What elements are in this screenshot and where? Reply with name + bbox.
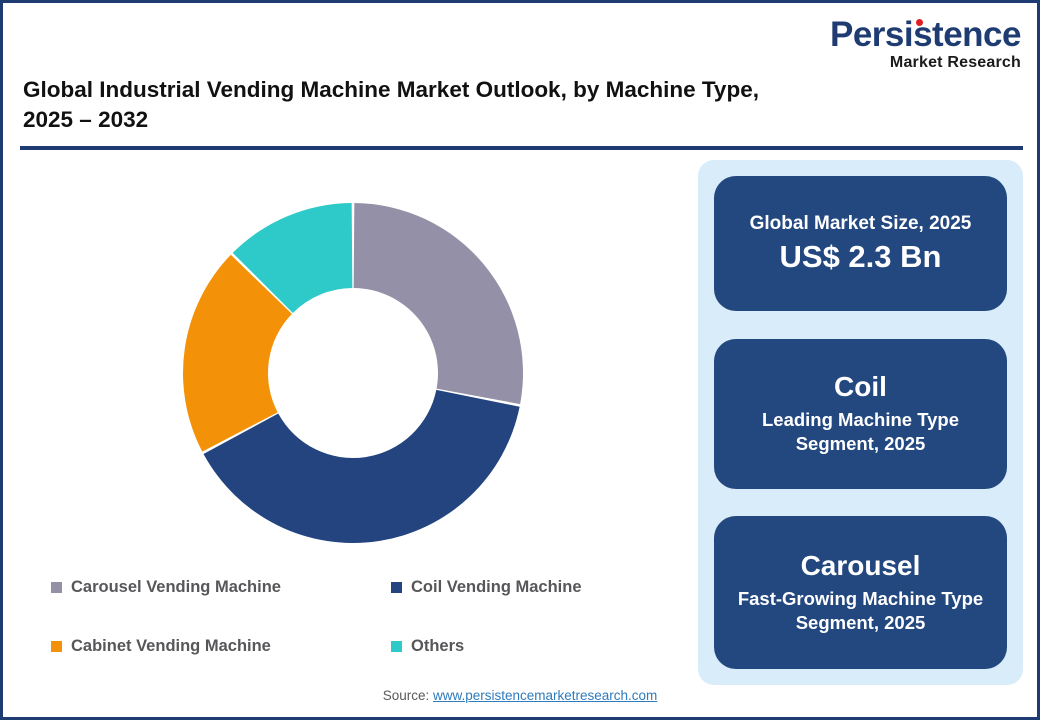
fast-growing-segment-desc: Fast-Growing Machine Type Segment, 2025 [730,587,991,635]
logo-red-dot-icon [916,19,923,26]
donut-chart [183,203,523,543]
leading-segment-name: Coil [834,371,887,403]
brand-logo: Persistence Market Research [830,17,1021,71]
legend-item-cabinet-vending-machine[interactable]: Cabinet Vending Machine [51,637,391,656]
source-line: Source: www.persistencemarketresearch.co… [3,688,1037,703]
legend-label-carousel: Carousel Vending Machine [71,578,281,597]
source-link[interactable]: www.persistencemarketresearch.com [433,688,657,703]
brand-logo-sub: Market Research [830,55,1021,71]
market-size-card: Global Market Size, 2025 US$ 2.3 Bn [714,176,1007,311]
donut-chart-area [20,163,690,583]
fast-growing-segment-name: Carousel [801,550,921,582]
legend-item-others[interactable]: Others [391,637,671,656]
leading-segment-desc: Leading Machine Type Segment, 2025 [730,408,991,456]
legend-swatch-cabinet [51,641,62,652]
legend-swatch-coil [391,582,402,593]
leading-segment-card: Coil Leading Machine Type Segment, 2025 [714,339,1007,489]
donut-slice-group [183,203,523,543]
legend-swatch-carousel [51,582,62,593]
legend-item-carousel-vending-machine[interactable]: Carousel Vending Machine [51,578,391,597]
legend-item-coil-vending-machine[interactable]: Coil Vending Machine [391,578,671,597]
legend-label-coil: Coil Vending Machine [411,578,582,597]
donut-chart-svg [183,203,523,543]
highlights-panel: Global Market Size, 2025 US$ 2.3 Bn Coil… [698,160,1023,685]
legend-label-others: Others [411,637,464,656]
infographic-frame: Persistence Market Research Global Indus… [0,0,1040,720]
fast-growing-segment-card: Carousel Fast-Growing Machine Type Segme… [714,516,1007,669]
market-size-label: Global Market Size, 2025 [750,212,972,236]
donut-slice-carousel-vending-machine[interactable] [354,203,523,404]
title-divider [20,146,1023,150]
page-title: Global Industrial Vending Machine Market… [23,75,813,135]
brand-logo-main: Persistence [830,17,1021,52]
source-prefix: Source: [383,688,433,703]
market-size-value: US$ 2.3 Bn [780,238,942,275]
chart-legend: Carousel Vending Machine Coil Vending Ma… [51,578,671,656]
legend-label-cabinet: Cabinet Vending Machine [71,637,271,656]
legend-swatch-others [391,641,402,652]
